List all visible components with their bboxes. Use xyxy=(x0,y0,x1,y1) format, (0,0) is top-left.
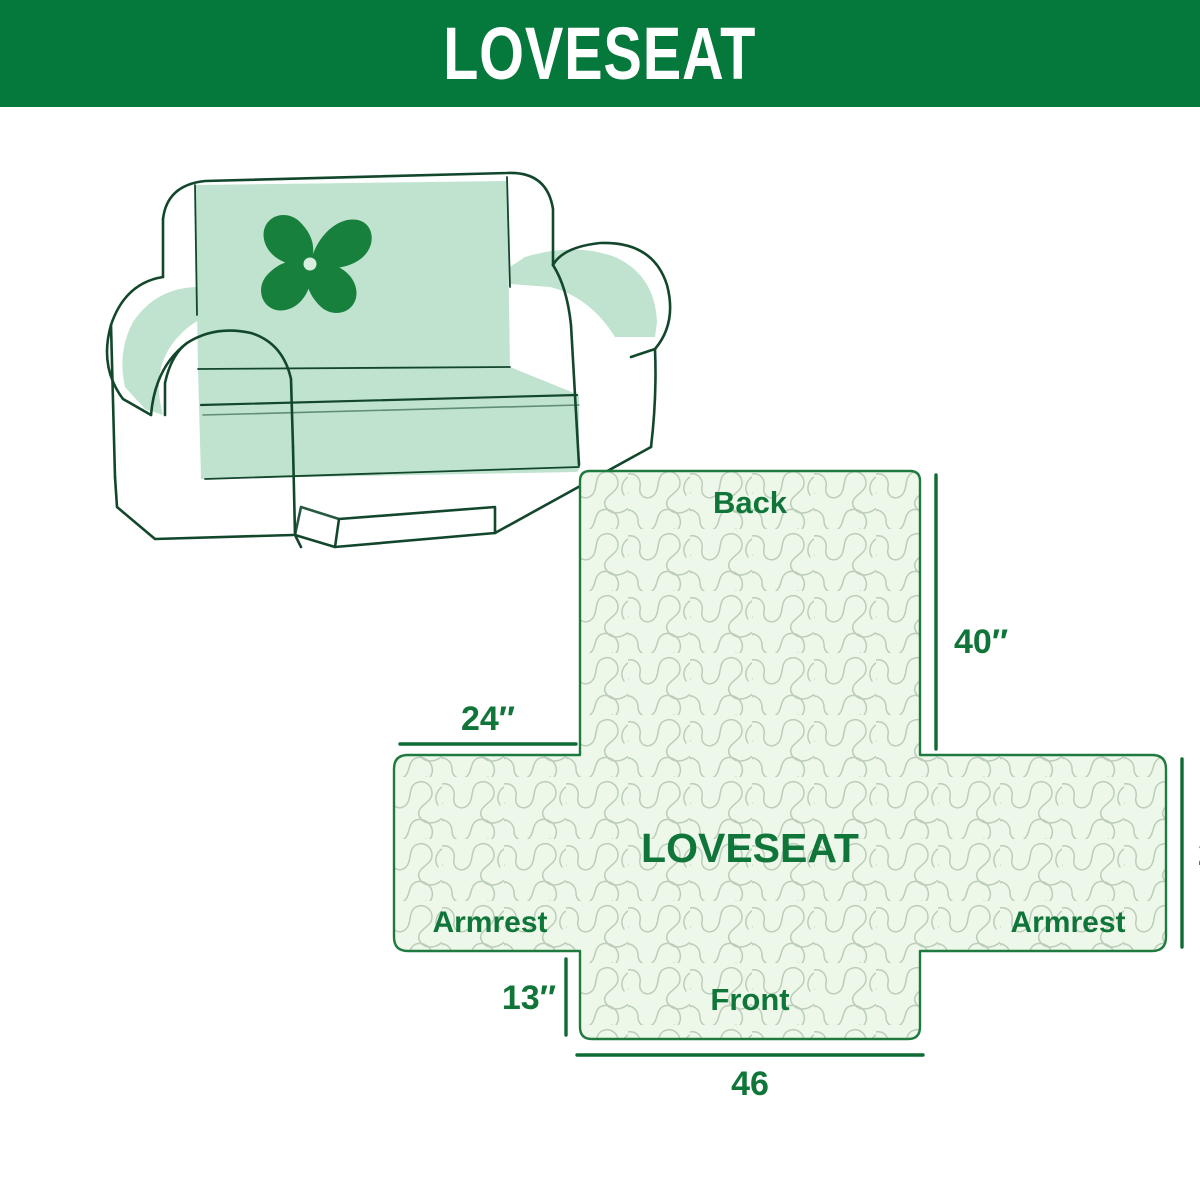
dimension-value-46: 46 xyxy=(731,1065,769,1103)
logo-hub xyxy=(304,258,317,271)
sofa-backrest-cover xyxy=(195,181,510,369)
cover-cross-shape xyxy=(394,471,1166,1039)
dimension-value-40: 40″ xyxy=(954,623,1008,661)
panel-label-front: Front xyxy=(710,982,789,1017)
panel-label-center: LOVESEAT xyxy=(641,825,859,871)
page-title: LOVESEAT xyxy=(443,17,756,91)
diagram-canvas: Back LOVESEAT Armrest Armrest Front 40″ … xyxy=(0,107,1200,1200)
dimension-seat-depth: 23″ xyxy=(1182,759,1200,947)
panel-label-back: Back xyxy=(713,485,788,520)
dimension-overall-width: 46 xyxy=(577,1055,923,1103)
panel-label-armrest-left: Armrest xyxy=(432,906,547,939)
dimension-value-13: 13″ xyxy=(502,979,556,1017)
dimension-value-24: 24″ xyxy=(461,700,515,738)
cover-layout-diagram: Back LOVESEAT Armrest Armrest Front 40″ … xyxy=(380,467,1180,1187)
dimension-front-height: 13″ xyxy=(502,959,566,1035)
sofa-right-arm-cover xyxy=(510,250,657,338)
dimension-back-height: 40″ xyxy=(936,475,1008,749)
panel-label-armrest-right: Armrest xyxy=(1010,906,1125,939)
header-banner: LOVESEAT xyxy=(0,0,1200,107)
dimension-back-width: 24″ xyxy=(400,700,576,744)
